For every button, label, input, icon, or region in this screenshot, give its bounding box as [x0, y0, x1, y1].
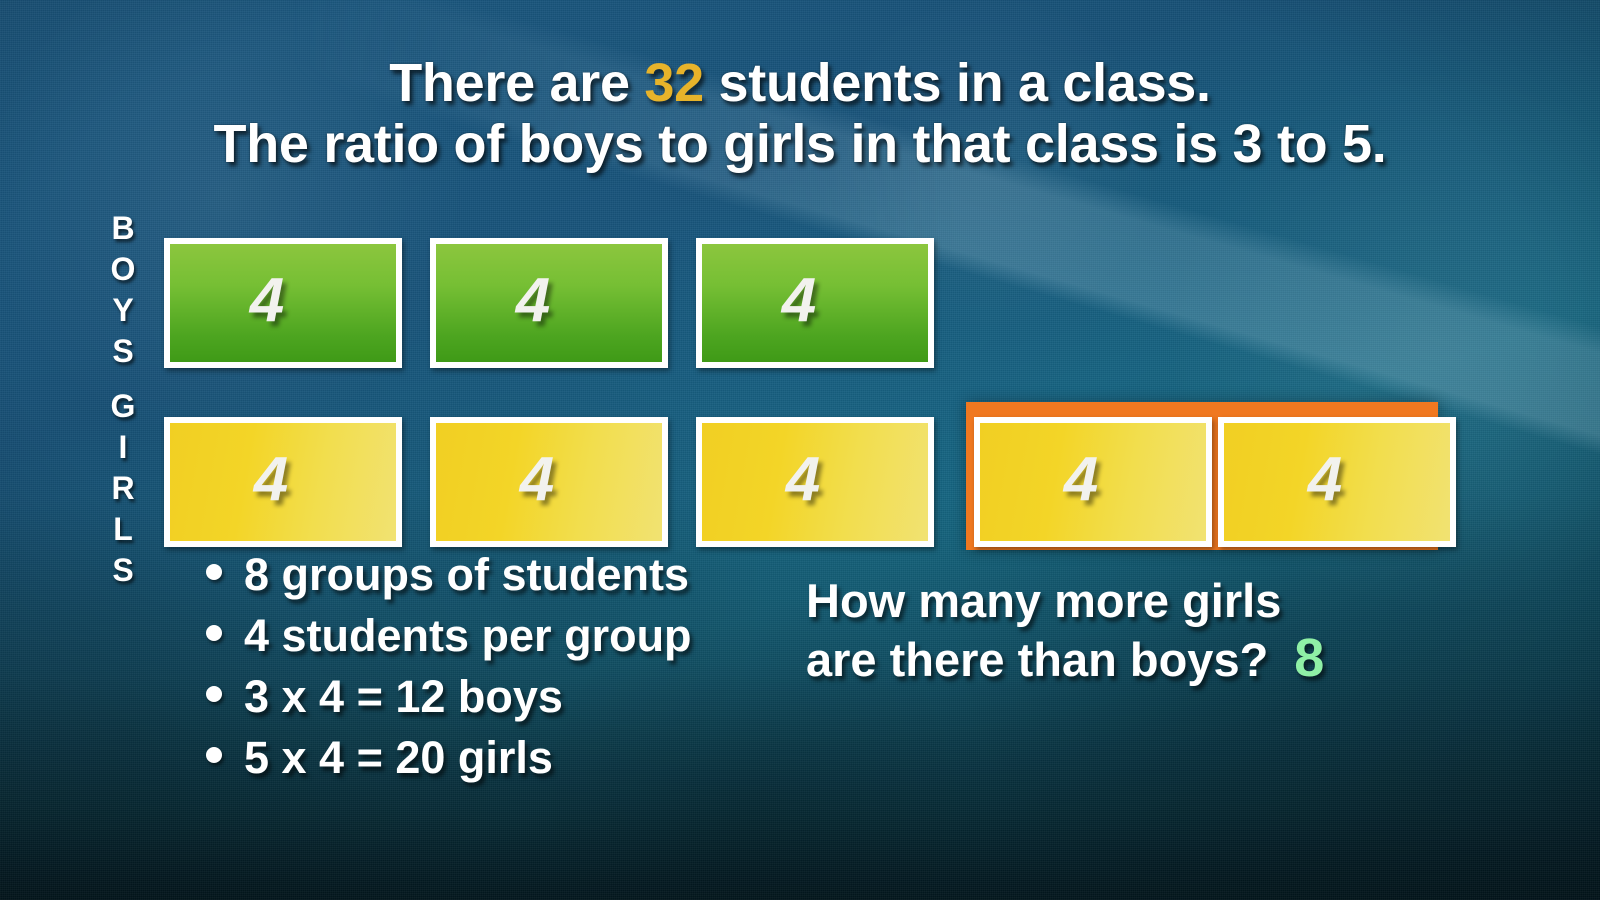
- slide-canvas: There are 32 students in a class. The ra…: [0, 0, 1600, 900]
- girls-group-box-3-value: 4: [786, 449, 820, 511]
- boys-group-box-2-value: 4: [516, 270, 550, 332]
- girls-group-box-1[interactable]: 4: [164, 417, 402, 547]
- question-line-1: How many more girls: [806, 575, 1324, 628]
- bullet-dot-icon: [206, 686, 222, 702]
- question-block: How many more girls are there than boys?…: [806, 575, 1324, 688]
- boys-group-box-2[interactable]: 4: [430, 238, 668, 368]
- title-line-2: The ratio of boys to girls in that class…: [0, 117, 1600, 172]
- girls-group-box-3[interactable]: 4: [696, 417, 934, 547]
- boys-group-box-3-value: 4: [782, 270, 816, 332]
- student-count-highlight: 32: [644, 53, 703, 113]
- bullet-item-4-label: 5 x 4 = 20 girls: [244, 735, 553, 780]
- girls-group-box-2-value: 4: [520, 449, 554, 511]
- title-block: There are 32 students in a class. The ra…: [0, 56, 1600, 172]
- girls-group-box-4-value: 4: [1064, 449, 1098, 511]
- row-label-boys-letter-3: S: [101, 335, 145, 367]
- title-line-1: There are 32 students in a class.: [0, 56, 1600, 111]
- bullet-item-4: 5 x 4 = 20 girls: [206, 735, 692, 780]
- question-line-2-row: are there than boys?8: [806, 628, 1324, 688]
- title-line-1-after: students in a class.: [704, 53, 1211, 113]
- girls-group-box-2[interactable]: 4: [430, 417, 668, 547]
- row-label-boys-letter-0: B: [101, 212, 145, 244]
- bullet-dot-icon: [206, 564, 222, 580]
- girls-group-box-4-highlighted[interactable]: 4: [974, 417, 1212, 547]
- row-label-girls: G I R L S: [101, 390, 145, 595]
- row-label-girls-letter-1: I: [101, 431, 145, 463]
- bullet-item-2: 4 students per group: [206, 613, 692, 658]
- row-label-girls-letter-2: R: [101, 472, 145, 504]
- bullet-item-1-label: 8 groups of students: [244, 552, 689, 597]
- bullet-dot-icon: [206, 625, 222, 641]
- bullet-item-1: 8 groups of students: [206, 552, 692, 597]
- girls-group-box-1-value: 4: [254, 449, 288, 511]
- boys-group-box-1-value: 4: [250, 270, 284, 332]
- girls-group-box-5-highlighted[interactable]: 4: [1218, 417, 1456, 547]
- answer-value: 8: [1294, 628, 1324, 688]
- row-label-boys-letter-2: Y: [101, 294, 145, 326]
- bullet-item-2-label: 4 students per group: [244, 613, 692, 658]
- row-label-boys-letter-1: O: [101, 253, 145, 285]
- question-line-2: are there than boys?: [806, 633, 1268, 686]
- title-line-1-before: There are: [389, 53, 644, 113]
- bullet-item-3: 3 x 4 = 12 boys: [206, 674, 692, 719]
- facts-bullet-list: 8 groups of students 4 students per grou…: [206, 552, 692, 796]
- bullet-dot-icon: [206, 747, 222, 763]
- boys-group-box-1[interactable]: 4: [164, 238, 402, 368]
- bullet-item-3-label: 3 x 4 = 12 boys: [244, 674, 563, 719]
- girls-group-box-5-value: 4: [1308, 449, 1342, 511]
- row-label-boys: B O Y S: [101, 212, 145, 376]
- row-label-girls-letter-0: G: [101, 390, 145, 422]
- boys-group-box-3[interactable]: 4: [696, 238, 934, 368]
- row-label-girls-letter-3: L: [101, 513, 145, 545]
- row-label-girls-letter-4: S: [101, 554, 145, 586]
